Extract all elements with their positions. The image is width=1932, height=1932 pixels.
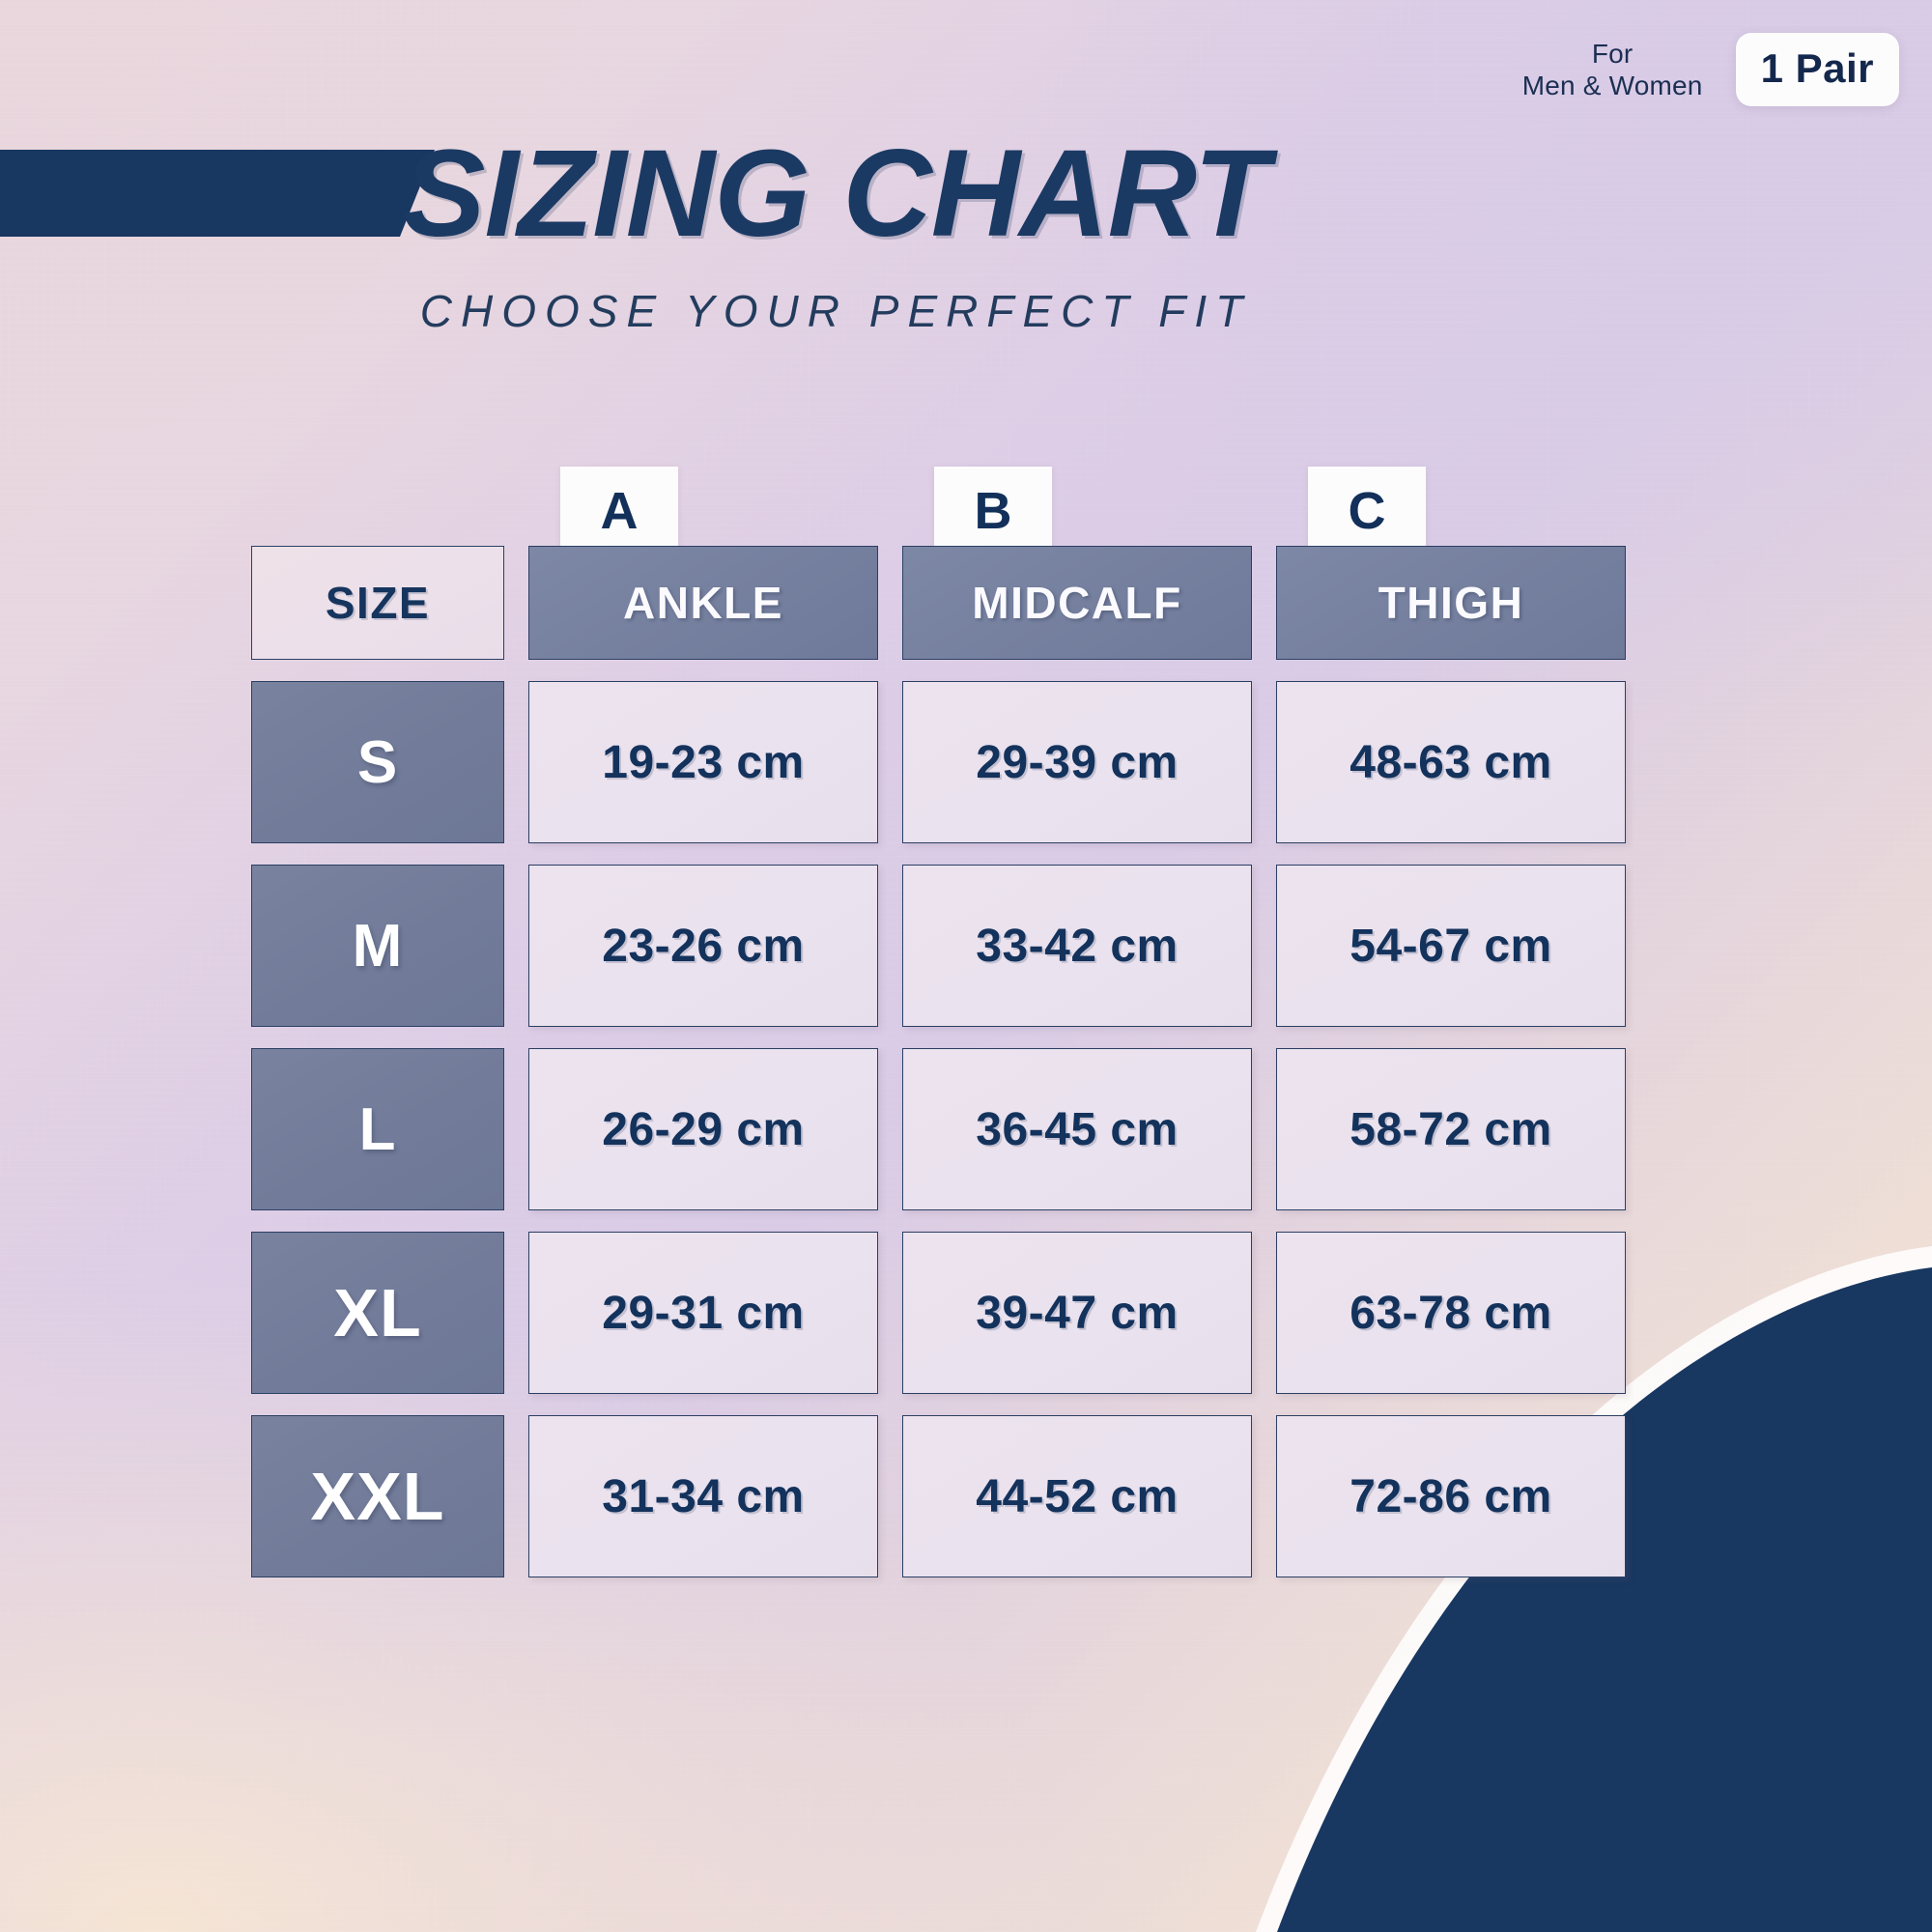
ankle-value: 19-23 cm xyxy=(528,681,878,843)
column-header-midcalf: MIDCALF xyxy=(902,546,1252,660)
table-row: XXL 31-34 cm 44-52 cm 72-86 cm xyxy=(251,1415,1700,1577)
sizing-table: A B C SIZE ANKLE MIDCALF THIGH S 19-23 c… xyxy=(251,546,1700,1599)
column-header-size: SIZE xyxy=(251,546,504,660)
table-header-row: SIZE ANKLE MIDCALF THIGH xyxy=(251,546,1700,660)
column-tab-c: C xyxy=(1308,467,1426,555)
column-tab-a: A xyxy=(560,467,678,555)
table-row: L 26-29 cm 36-45 cm 58-72 cm xyxy=(251,1048,1700,1210)
ankle-value: 23-26 cm xyxy=(528,865,878,1027)
size-label: S xyxy=(251,681,504,843)
audience-label-line1: For xyxy=(1522,38,1703,70)
thigh-value: 48-63 cm xyxy=(1276,681,1626,843)
midcalf-value: 33-42 cm xyxy=(902,865,1252,1027)
column-header-ankle: ANKLE xyxy=(528,546,878,660)
quantity-badge: 1 Pair xyxy=(1736,33,1899,106)
midcalf-value: 39-47 cm xyxy=(902,1232,1252,1394)
size-label: L xyxy=(251,1048,504,1210)
midcalf-value: 36-45 cm xyxy=(902,1048,1252,1210)
midcalf-value: 44-52 cm xyxy=(902,1415,1252,1577)
page-subtitle: CHOOSE YOUR PERFECT FIT xyxy=(0,285,1932,337)
size-label: XXL xyxy=(251,1415,504,1577)
ankle-value: 31-34 cm xyxy=(528,1415,878,1577)
product-badge-group: For Men & Women 1 Pair xyxy=(1522,33,1899,106)
size-label: XL xyxy=(251,1232,504,1394)
ankle-value: 26-29 cm xyxy=(528,1048,878,1210)
thigh-value: 54-67 cm xyxy=(1276,865,1626,1027)
thigh-value: 58-72 cm xyxy=(1276,1048,1626,1210)
midcalf-value: 29-39 cm xyxy=(902,681,1252,843)
column-header-thigh: THIGH xyxy=(1276,546,1626,660)
audience-label-line2: Men & Women xyxy=(1522,70,1703,101)
column-tab-b: B xyxy=(934,467,1052,555)
audience-label: For Men & Women xyxy=(1522,38,1703,101)
table-row: S 19-23 cm 29-39 cm 48-63 cm xyxy=(251,681,1700,843)
thigh-value: 63-78 cm xyxy=(1276,1232,1626,1394)
size-label: M xyxy=(251,865,504,1027)
table-row: XL 29-31 cm 39-47 cm 63-78 cm xyxy=(251,1232,1700,1394)
ankle-value: 29-31 cm xyxy=(528,1232,878,1394)
table-row: M 23-26 cm 33-42 cm 54-67 cm xyxy=(251,865,1700,1027)
thigh-value: 72-86 cm xyxy=(1276,1415,1626,1577)
page-title: SIZING CHART xyxy=(0,123,1932,265)
